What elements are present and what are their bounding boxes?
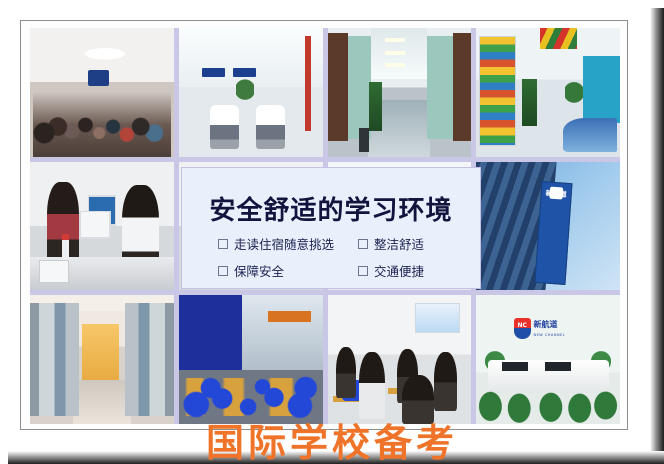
new-channel-logo: NC 新航道 NEW CHANNEL — [514, 318, 580, 339]
option-row: 走读住宿随意挑选 整洁舒适 — [218, 234, 466, 253]
reception-counter — [563, 118, 618, 151]
wall-poster — [415, 303, 460, 333]
laptop-icon — [79, 211, 111, 239]
chair-row — [179, 362, 323, 421]
checkbox-icon — [358, 266, 368, 276]
monitor-icon — [545, 362, 571, 371]
checkbox-icon — [218, 239, 228, 249]
photo-classroom-blue — [179, 295, 323, 424]
option-item-safety: 保障安全 — [218, 261, 358, 280]
photo-image — [328, 295, 472, 424]
photo-image — [179, 295, 323, 424]
photo-students-study — [328, 295, 472, 424]
bottle-icon — [62, 234, 69, 262]
photo-image: 新航道 — [476, 162, 620, 291]
option-item-transport: 交通便捷 — [358, 261, 424, 280]
checkbox-icon — [358, 239, 368, 249]
window-curtain — [82, 324, 119, 386]
option-item-boarding: 走读住宿随意挑选 — [218, 234, 358, 253]
collage-poster: 新航道 — [0, 0, 664, 464]
option-label: 整洁舒适 — [374, 234, 424, 253]
bunting-decor-icon — [540, 28, 577, 49]
photo-reception-desk: NC 新航道 NEW CHANNEL — [476, 295, 620, 424]
feature-callout-panel: 安全舒适的学习环境 走读住宿随意挑选 整洁舒适 保障安全 — [181, 167, 481, 289]
bunk-bed — [30, 303, 79, 416]
photo-display-wall — [476, 28, 620, 157]
wood-door — [328, 33, 348, 141]
green-door — [348, 36, 371, 139]
student-figure — [434, 352, 457, 411]
photo-styling-room — [179, 28, 323, 157]
plant-icon — [236, 74, 253, 100]
checkbox-icon — [218, 266, 228, 276]
photo-image — [476, 28, 620, 157]
red-rack — [305, 36, 311, 131]
panel-option-list: 走读住宿随意挑选 整洁舒适 保障安全 交通便捷 — [218, 234, 466, 288]
photo-image — [328, 28, 472, 157]
watermark-text: 国际学校备考 — [0, 424, 664, 462]
brand-name-en: NEW CHANNEL — [533, 333, 579, 339]
photo-image — [30, 28, 174, 157]
ceiling-lamp-icon — [385, 51, 405, 55]
brochure-display-board — [479, 36, 516, 146]
student-figure — [336, 347, 356, 398]
salon-chair — [210, 105, 239, 149]
photo-image — [30, 162, 174, 291]
option-item-clean: 整洁舒适 — [358, 234, 424, 253]
wall-sign-icon — [202, 68, 225, 77]
christmas-tree-icon — [522, 79, 536, 125]
photo-tower-sign: 新航道 — [476, 162, 620, 291]
student-figure — [402, 375, 434, 424]
plant-icon — [565, 77, 582, 105]
green-door — [427, 36, 453, 139]
crowd-figures — [33, 77, 171, 157]
option-label: 交通便捷 — [374, 261, 424, 280]
student-figure — [359, 352, 385, 419]
nc-shield-icon: NC — [514, 318, 531, 339]
trash-bin-icon — [359, 128, 369, 151]
plant-icon — [369, 82, 382, 131]
tower-sign-text: 新航道 — [541, 188, 570, 200]
blue-wall — [583, 56, 620, 123]
option-row: 保障安全 交通便捷 — [218, 261, 466, 280]
photo-image — [30, 295, 174, 424]
ceiling-lamp-icon — [385, 38, 405, 42]
books-icon — [39, 260, 70, 283]
dorm-floor — [73, 380, 131, 424]
bunk-bed — [125, 303, 174, 416]
photo-dormitory — [30, 295, 174, 424]
brand-name-cn: 新航道 — [533, 319, 579, 332]
photo-image: NC 新航道 NEW CHANNEL — [476, 295, 620, 424]
option-label: 走读住宿随意挑选 — [234, 234, 334, 253]
photo-study-desk — [30, 162, 174, 291]
option-label: 保障安全 — [234, 261, 284, 280]
panel-title: 安全舒适的学习环境 — [182, 190, 480, 227]
photo-corridor — [328, 28, 472, 157]
potted-plants-row — [476, 380, 620, 424]
ceiling-lamp-icon — [385, 63, 405, 67]
photo-group-photo — [30, 28, 174, 157]
photo-image — [179, 28, 323, 157]
wood-door — [453, 33, 472, 141]
salon-chair — [256, 105, 285, 149]
monitor-icon — [502, 362, 528, 371]
poster-shadow-right — [650, 8, 664, 464]
nc-badge-text: NC — [514, 322, 531, 329]
orange-banner — [268, 311, 311, 323]
